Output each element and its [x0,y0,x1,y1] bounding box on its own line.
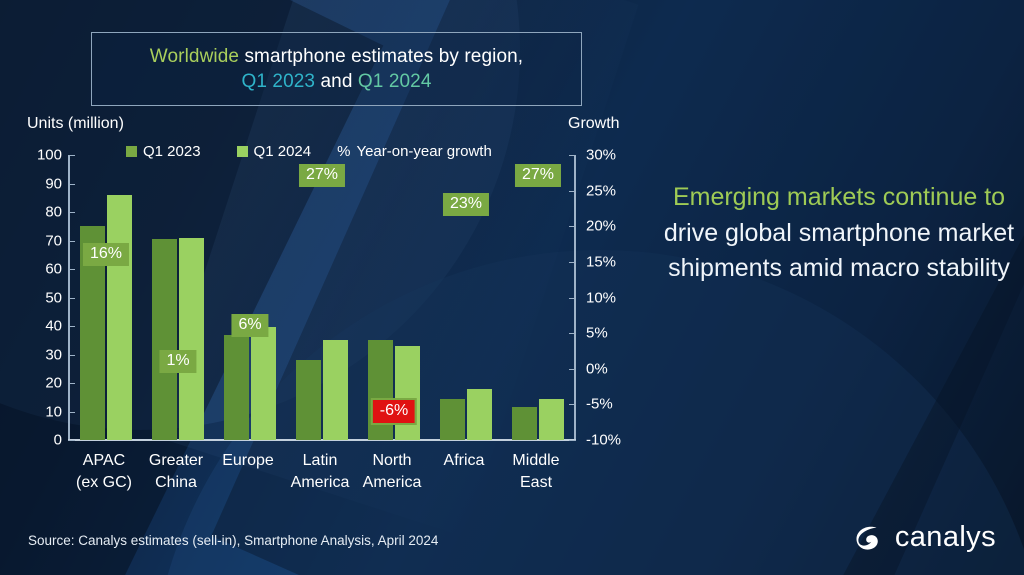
y-axis-right-tick-label: 5% [586,325,638,342]
y-axis-right-tick-label: 0% [586,360,638,377]
bar-group [70,155,142,440]
plot-area [70,155,574,440]
y-axis-left-tick-label: 40 [22,318,62,335]
bar-q1-2023[interactable] [368,340,393,440]
x-axis-label-line-1: Middle [512,450,559,472]
x-axis-label-line-1: Latin [291,450,350,472]
insight-message-highlight: Emerging markets continue to [673,183,1005,211]
x-axis-label-line-2: (ex GC) [76,472,132,494]
y-axis-right-tick [569,191,576,192]
y-axis-right-tick [569,155,576,156]
y-axis-right-tick-label: 10% [586,289,638,306]
y-axis-left-tick [68,155,75,156]
y-axis-left-tick [68,412,75,413]
y-axis-right-tick [569,440,576,441]
growth-badge: 16% [83,243,129,266]
y-axis-left-tick-label: 0 [22,432,62,449]
bar-group [286,155,358,440]
y-axis-left-labels: 0102030405060708090100 [18,155,62,440]
x-axis-label-line-2: East [512,472,559,494]
y-axis-left-tick [68,269,75,270]
insight-message: Emerging markets continue to drive globa… [660,180,1018,287]
y-axis-right-tick-label: -10% [586,432,638,449]
x-axis-label-line-2: America [363,472,422,494]
y-axis-left-tick [68,383,75,384]
y-axis-left-tick [68,298,75,299]
bar-q1-2023[interactable] [152,239,177,440]
x-axis-label-line-1: APAC [76,450,132,472]
growth-badge: 1% [159,350,196,373]
y-axis-left-tick-label: 90 [22,175,62,192]
title-period-2024: Q1 2024 [358,71,432,92]
y-axis-right-tick-label: 30% [586,147,638,164]
y-axis-right-tick [569,226,576,227]
y-axis-left-tick [68,326,75,327]
y-axis-left-tick-label: 20 [22,375,62,392]
x-axis-category-label: LatinAmerica [291,450,350,493]
x-axis-category-label: MiddleEast [512,450,559,493]
y-axis-left-tick [68,440,75,441]
y-axis-left-tick-label: 30 [22,346,62,363]
bar-group [142,155,214,440]
growth-badge: 27% [299,164,345,187]
slide-canvas: Worldwide smartphone estimates by region… [0,0,1024,575]
bar-group [358,155,430,440]
bar-q1-2024[interactable] [179,238,204,440]
y-axis-left-tick-label: 70 [22,232,62,249]
x-axis-label-line-2 [444,472,485,494]
y-axis-right-tick-label: 15% [586,253,638,270]
x-axis-category-label: NorthAmerica [363,450,422,493]
y-axis-right-tick [569,369,576,370]
y-axis-left-tick [68,212,75,213]
y-axis-right-tick-label: 20% [586,218,638,235]
growth-badge: 23% [443,193,489,216]
left-axis-title: Units (million) [27,115,124,133]
y-axis-left-tick [68,241,75,242]
y-axis-right-tick [569,404,576,405]
y-axis-right-tick [569,298,576,299]
x-axis-label-line-2: China [149,472,203,494]
x-axis-category-label: Europe [222,450,274,493]
insight-message-body: drive global smartphone market shipments… [664,219,1014,283]
bar-q1-2023[interactable] [224,335,249,440]
growth-badge: 6% [231,314,268,337]
bar-group [502,155,574,440]
right-axis-title: Growth [568,115,620,133]
y-axis-left-tick [68,184,75,185]
bar-group [214,155,286,440]
y-axis-right-tick [569,333,576,334]
bar-q1-2024[interactable] [467,389,492,440]
chart-title-line-2: Q1 2023 and Q1 2024 [242,69,432,94]
y-axis-right-labels: -10%-5%0%5%10%15%20%25%30% [586,155,638,440]
bar-q1-2023[interactable] [440,399,465,440]
title-highlight-worldwide: Worldwide [150,46,239,67]
bar-q1-2024[interactable] [539,399,564,440]
bar-q1-2024[interactable] [395,346,420,440]
growth-badge: -6% [373,400,415,423]
title-period-2023: Q1 2023 [242,71,316,92]
x-axis-label-line-1: Africa [444,450,485,472]
title-conjunction: and [320,71,352,92]
x-axis-category-labels: APAC(ex GC)GreaterChinaEurope LatinAmeri… [68,450,576,506]
canalys-logo: canalys [852,520,996,554]
y-axis-right-tick [569,262,576,263]
y-axis-right-tick-label: 25% [586,182,638,199]
chart-title-line-1: Worldwide smartphone estimates by region… [150,44,523,69]
canalys-wordmark: canalys [895,521,996,554]
bar-q1-2024[interactable] [107,195,132,440]
title-text-main: smartphone estimates by region, [244,46,523,67]
y-axis-left-tick-label: 10 [22,403,62,420]
y-axis-left-tick-label: 60 [22,261,62,278]
x-axis-label-line-2: America [291,472,350,494]
y-axis-left-tick-label: 50 [22,289,62,306]
x-axis-label-line-1: Europe [222,450,274,472]
growth-badge: 27% [515,164,561,187]
y-axis-left-tick-label: 80 [22,204,62,221]
y-axis-right-tick-label: -5% [586,396,638,413]
source-note: Source: Canalys estimates (sell-in), Sma… [28,533,438,548]
bar-q1-2023[interactable] [512,407,537,440]
bar-q1-2023[interactable] [296,360,321,440]
chart-title-box: Worldwide smartphone estimates by region… [91,32,582,106]
bar-q1-2024[interactable] [323,340,348,440]
x-axis-label-line-1: Greater [149,450,203,472]
y-axis-left-tick [68,355,75,356]
x-axis-label-line-1: North [363,450,422,472]
bar-q1-2024[interactable] [251,327,276,440]
x-axis-category-label: APAC(ex GC) [76,450,132,493]
x-axis-category-label: GreaterChina [149,450,203,493]
canalys-swirl-icon [852,520,886,554]
x-axis-category-label: Africa [444,450,485,493]
y-axis-left-tick-label: 100 [22,147,62,164]
x-axis-label-line-2 [222,472,274,494]
